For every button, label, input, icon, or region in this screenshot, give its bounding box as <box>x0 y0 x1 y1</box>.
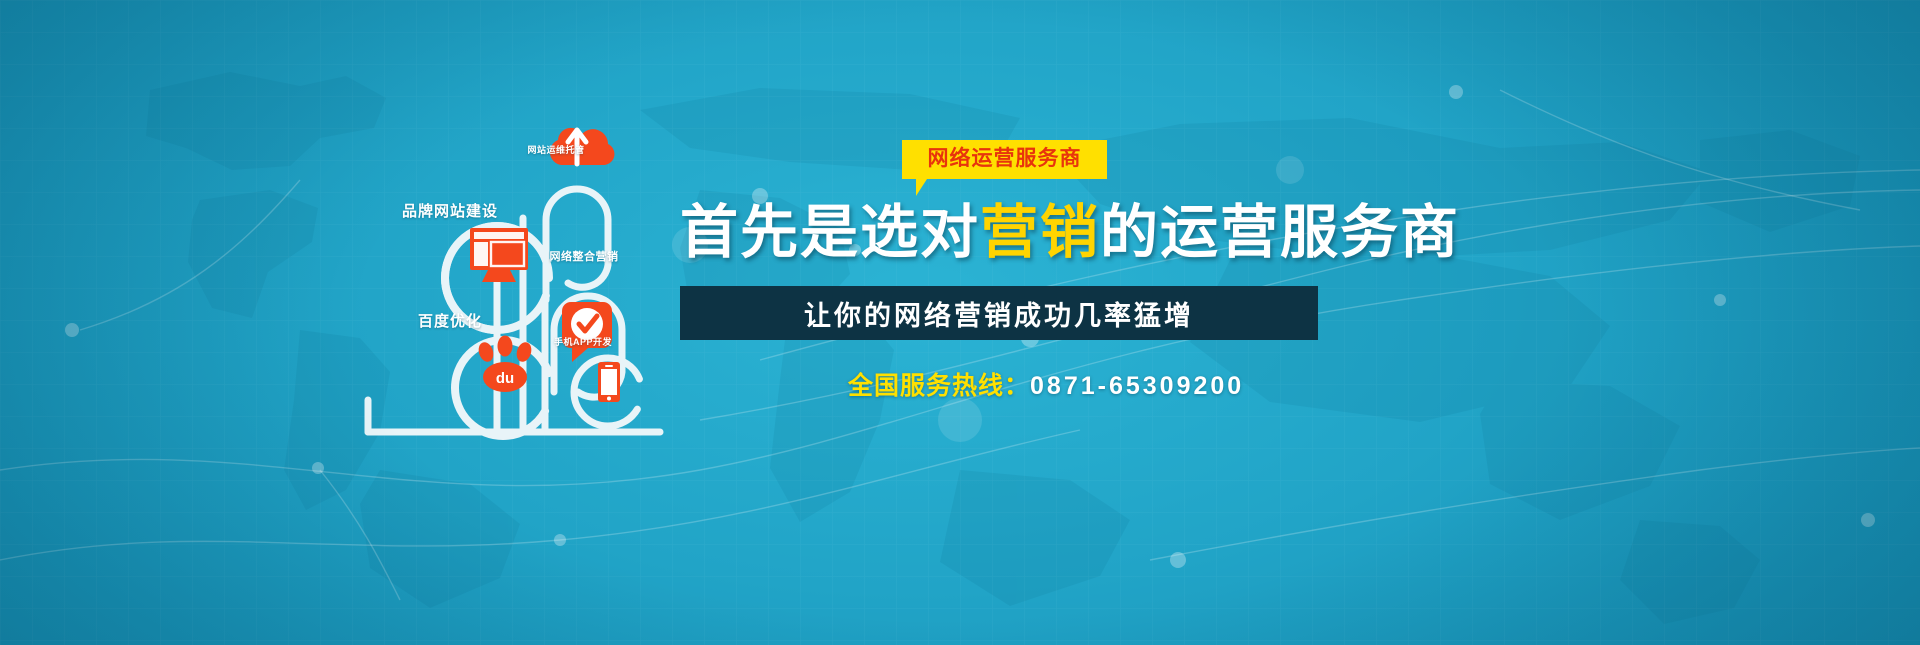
hotline-label: 全国服务热线： <box>848 372 1030 400</box>
leaf-label-baidu-seo: 百度优化 <box>410 310 490 331</box>
leaf-label-app-dev: 手机APP开发 <box>548 335 618 348</box>
svg-text:du: du <box>496 370 514 387</box>
hotline-number[interactable]: 0871-65309200 <box>1030 372 1244 400</box>
leaf-label-site-ops: 网站运维托管 <box>521 143 591 156</box>
hotline: 全国服务热线：0871-65309200 <box>848 366 1580 402</box>
leaf-ring-site-ops <box>546 189 608 300</box>
badge-tail-pointer <box>916 179 927 196</box>
subtitle-text: 让你的网络营销成功几率猛增 <box>804 294 1194 333</box>
headline-part-1: 首先是选对 <box>680 200 980 265</box>
mobile-phone-icon <box>598 362 620 402</box>
service-badge-label: 网络运营服务商 <box>902 140 1107 179</box>
leaf-label-brand-site: 品牌网站建设 <box>395 200 505 221</box>
banner-content: 网络运营服务商 首先是选对营销的运营服务商 让你的网络营销成功几率猛增 全国服务… <box>680 140 1580 402</box>
headline-highlight: 营销 <box>980 200 1100 265</box>
marketing-banner: du 品牌网站建设 百度优化 网站运维 <box>0 0 1920 645</box>
headline-part-2: 的运营服务商 <box>1100 200 1460 265</box>
check-bubble-icon <box>562 302 612 362</box>
subtitle-bar: 让你的网络营销成功几率猛增 <box>680 286 1318 340</box>
monitor-icon <box>470 228 528 282</box>
page-title: 首先是选对营销的运营服务商 <box>680 201 1580 266</box>
leaf-label-integrated-marketing: 网络整合营销 <box>534 248 634 264</box>
service-badge: 网络运营服务商 <box>902 140 1107 179</box>
